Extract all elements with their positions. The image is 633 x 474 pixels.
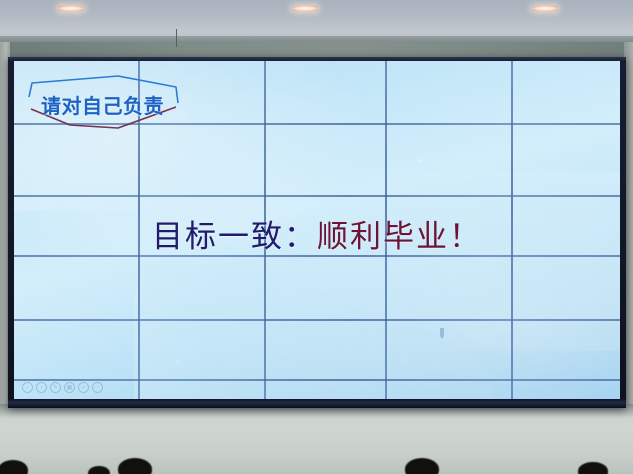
audience-head <box>0 460 28 474</box>
slide-headline: 目标一致：顺利毕业！ <box>14 211 620 256</box>
slide-headline-part-a: 目标一致： <box>152 219 317 255</box>
next-slide-button[interactable]: › <box>36 382 47 393</box>
pen-annotate-button[interactable]: ✎ <box>50 382 61 393</box>
audience-head <box>578 462 608 474</box>
screen-glare <box>134 279 494 399</box>
video-wall-bezel-bottom <box>8 399 626 408</box>
screen-glare <box>300 171 620 351</box>
ceiling-light-1 <box>58 6 84 11</box>
panel-seam-horizontal <box>14 195 620 197</box>
video-wall-display-surface[interactable]: 请对自己负责 目标一致：顺利毕业！ ‹ › ✎ ▦ ⌕ ⋯ <box>14 61 620 399</box>
lcd-video-wall[interactable]: 请对自己负责 目标一致：顺利毕业！ ‹ › ✎ ▦ ⌕ ⋯ <box>8 57 626 408</box>
screen-blemish <box>176 361 180 364</box>
slide-logo-text: 请对自己负责 <box>41 90 164 119</box>
ceiling-light-2 <box>292 6 318 11</box>
slide-headline-part-b: 顺利毕业！ <box>317 219 482 255</box>
ceiling-light-3 <box>532 6 558 11</box>
screen-blemish <box>418 159 421 162</box>
audience-head <box>88 466 110 474</box>
audience-head <box>405 458 439 474</box>
audience-head <box>118 458 152 474</box>
presentation-toolbar[interactable]: ‹ › ✎ ▦ ⌕ ⋯ <box>22 382 103 393</box>
text-cursor <box>439 328 446 339</box>
panel-seam-horizontal <box>14 319 620 321</box>
room-photo-scene: 请对自己负责 目标一致：顺利毕业！ ‹ › ✎ ▦ ⌕ ⋯ <box>0 0 633 474</box>
panel-seam-horizontal <box>14 379 620 381</box>
slide-logo-banner: 请对自己负责 <box>26 73 194 131</box>
previous-slide-button[interactable]: ‹ <box>22 382 33 393</box>
ceiling-sensor-stem <box>176 29 177 47</box>
more-options-button[interactable]: ⋯ <box>92 382 103 393</box>
zoom-magnify-button[interactable]: ⌕ <box>78 382 89 393</box>
slide-thumbnails-button[interactable]: ▦ <box>64 382 75 393</box>
